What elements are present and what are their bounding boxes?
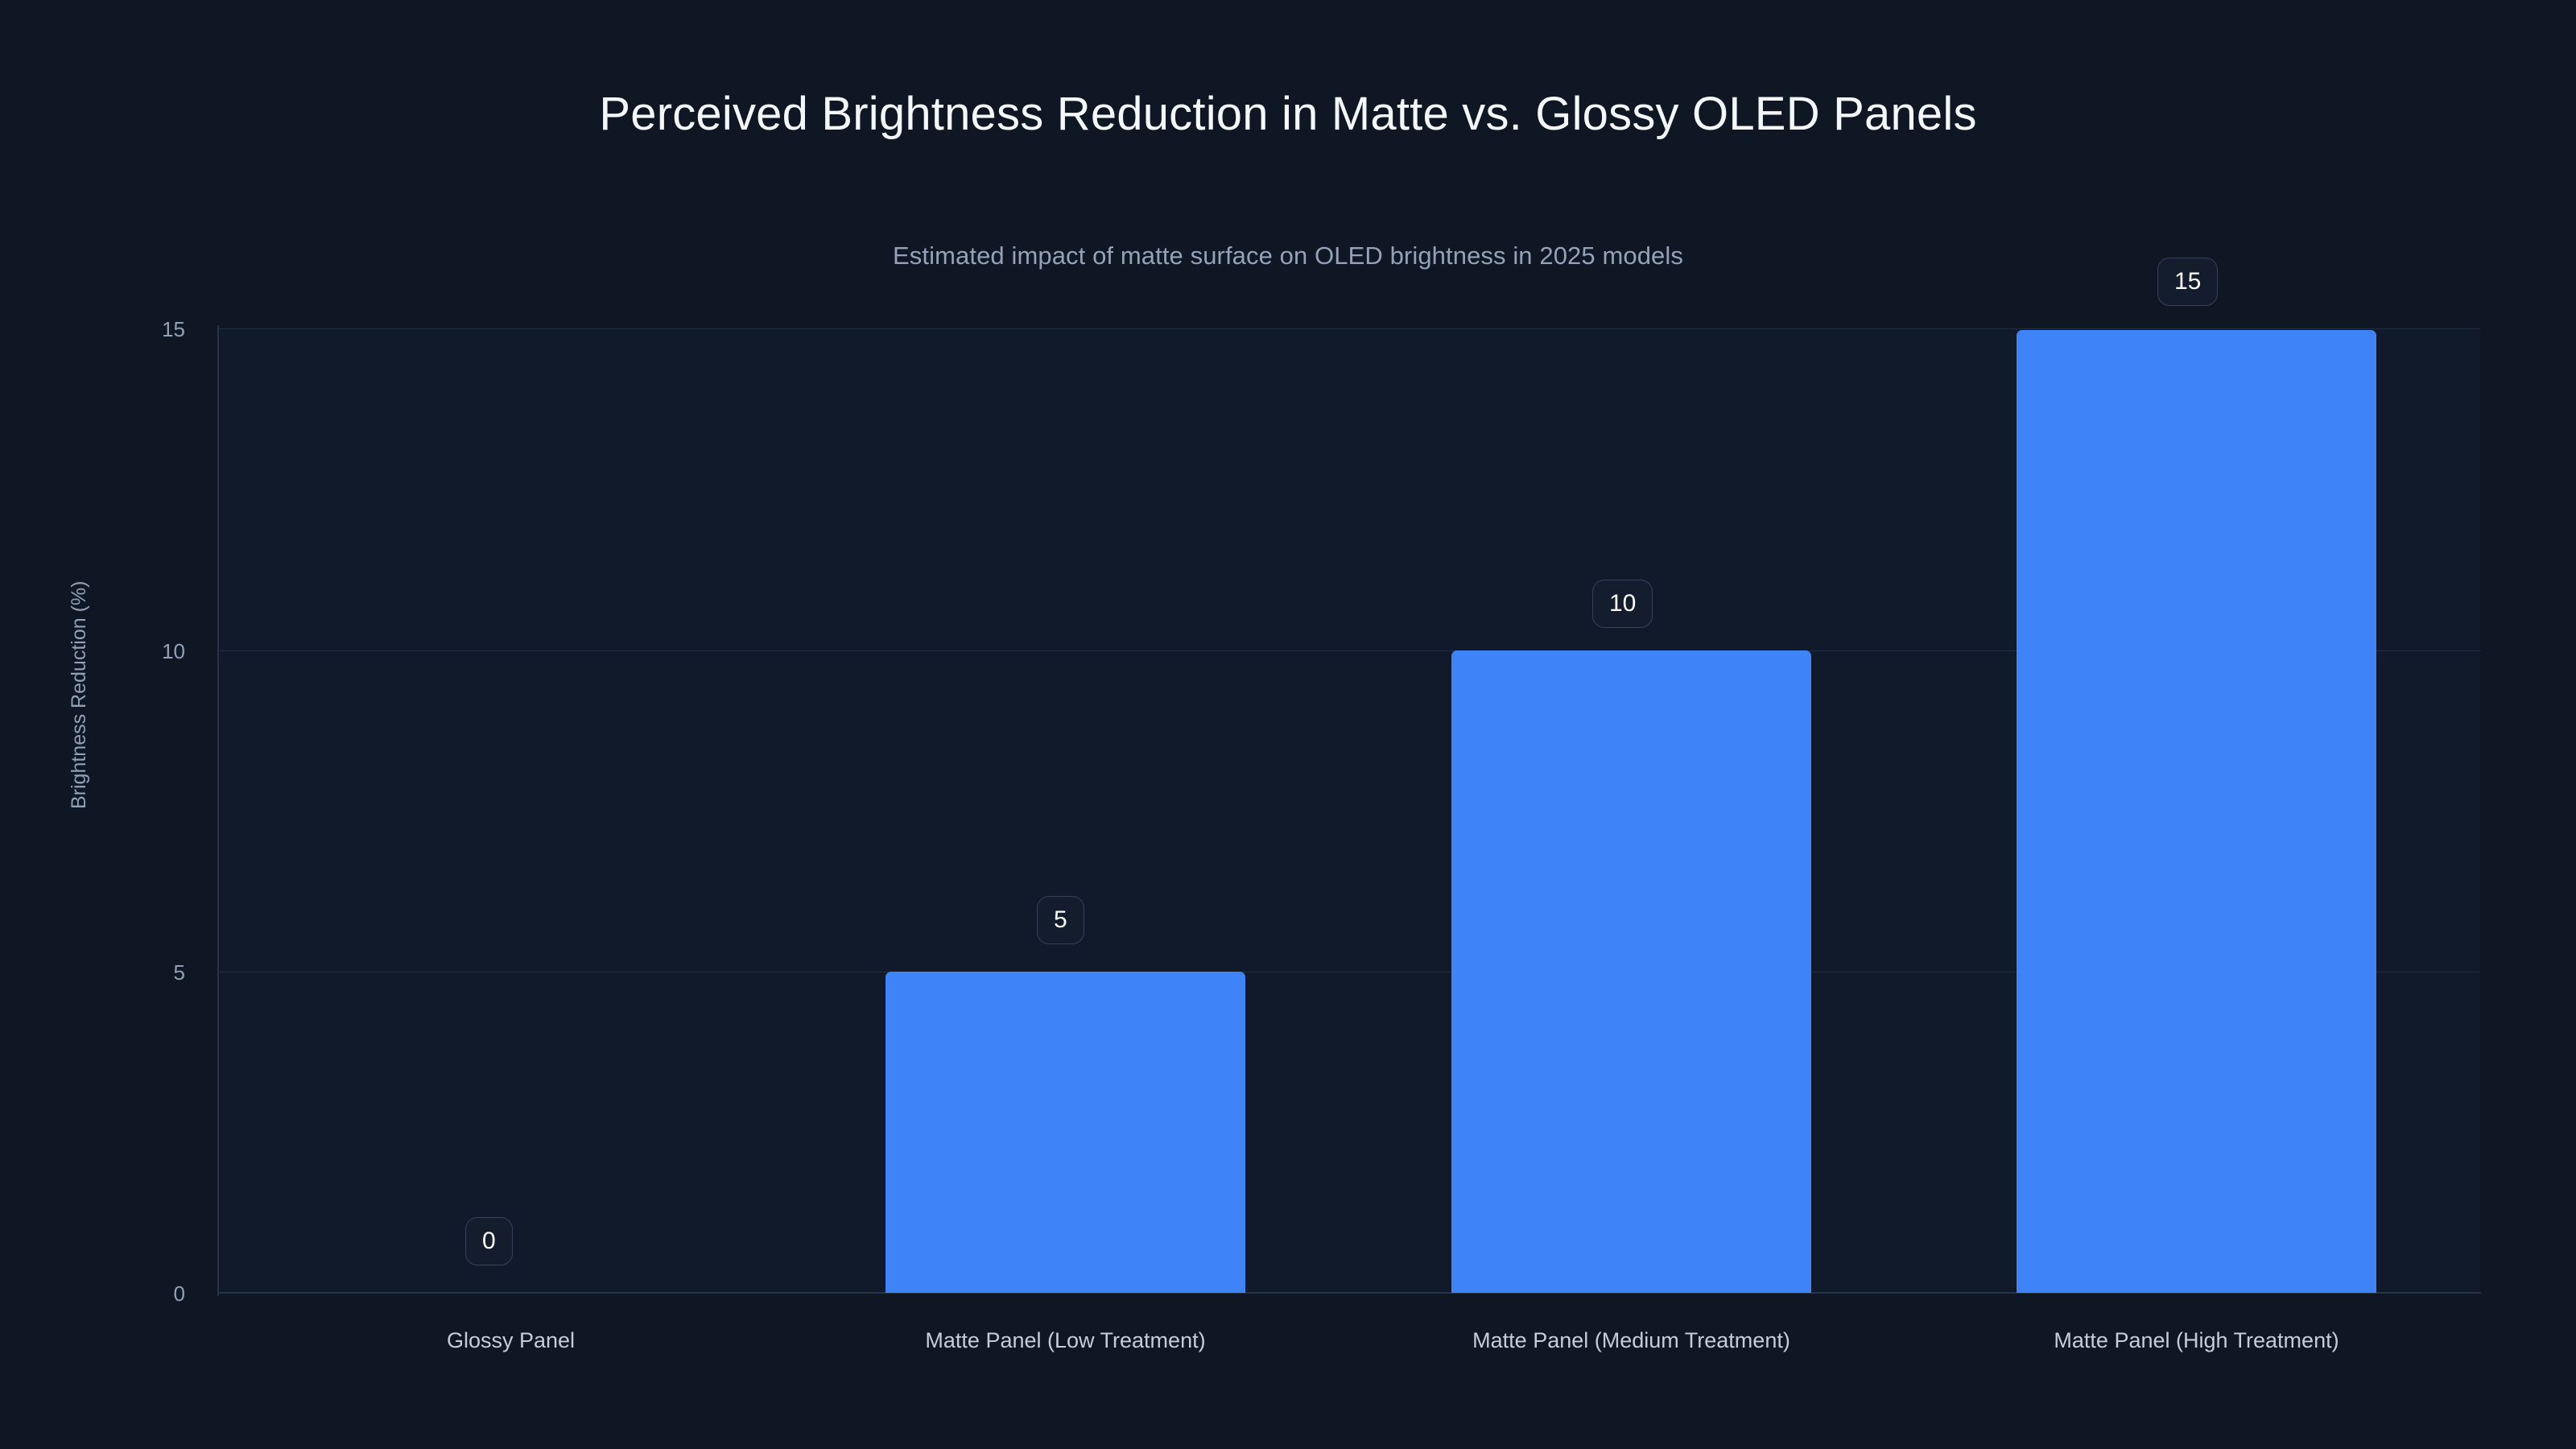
value-badge-glossy-panel: 0 <box>465 1217 513 1265</box>
y-tick-label-15: 15 <box>121 319 185 340</box>
chart-title: Perceived Brightness Reduction in Matte … <box>0 89 2576 140</box>
y-axis-title: Brightness Reduction (%) <box>68 581 91 809</box>
bar-matte-panel-low[interactable] <box>885 972 1245 1293</box>
bar-chart: Perceived Brightness Reduction in Matte … <box>0 0 2576 1449</box>
value-badge-matte-panel-medium: 10 <box>1592 580 1653 628</box>
value-badge-matte-panel-low: 5 <box>1037 896 1084 944</box>
x-tick-label-matte-panel-low: Matte Panel (Low Treatment) <box>805 1328 1326 1353</box>
y-tick-label-0: 0 <box>121 1283 185 1304</box>
bar-matte-panel-high[interactable] <box>2017 330 2376 1293</box>
y-axis-line <box>217 325 219 1296</box>
value-badge-matte-panel-high: 15 <box>2157 258 2218 306</box>
x-tick-label-glossy-panel: Glossy Panel <box>331 1328 691 1353</box>
x-tick-label-matte-panel-medium: Matte Panel (Medium Treatment) <box>1371 1328 1892 1353</box>
x-tick-label-matte-panel-high: Matte Panel (High Treatment) <box>1936 1328 2457 1353</box>
y-tick-label-5: 5 <box>121 962 185 983</box>
y-tick-label-10: 10 <box>121 641 185 662</box>
gridline-15 <box>218 328 2480 329</box>
bar-matte-panel-medium[interactable] <box>1451 650 1811 1293</box>
